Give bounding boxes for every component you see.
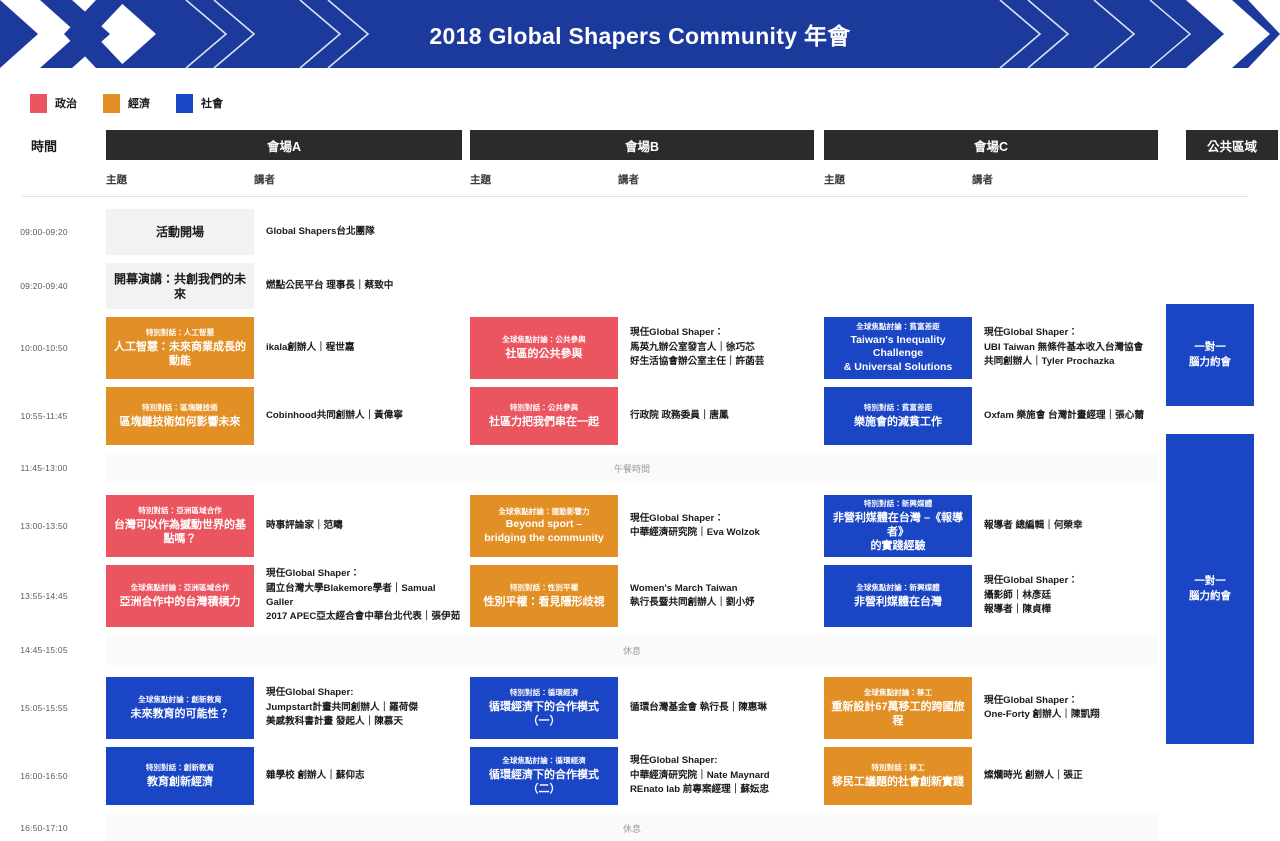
session-chip-venue-b[interactable]: 全球焦點討論：公共參與社區的公共參與 bbox=[470, 317, 618, 379]
legend-label-society: 社會 bbox=[201, 95, 223, 111]
subheader-speaker-a: 講者 bbox=[254, 162, 462, 196]
session-title-venue-b: 循環經濟下的合作模式（一） bbox=[476, 700, 612, 728]
row-time-label: 10:00-10:50 bbox=[0, 317, 88, 379]
session-chip-venue-a[interactable]: 特別對話：區塊鏈技術區塊鏈技術如何影響未來 bbox=[106, 387, 254, 445]
session-category-venue-b: 全球焦點討論：循環經濟 bbox=[502, 756, 586, 766]
session-speaker-venue-c: 燦爛時光 創辦人｜張正 bbox=[972, 747, 1158, 805]
session-speaker-venue-a: Global Shapers台北團隊 bbox=[254, 209, 462, 255]
empty-slot-venue-b bbox=[470, 263, 618, 309]
legend-swatch-economy bbox=[103, 94, 120, 113]
session-speaker-venue-a: 時事評論家｜范疇 bbox=[254, 495, 462, 557]
subheader-topic-a: 主題 bbox=[106, 162, 254, 196]
empty-speaker-venue-b bbox=[618, 209, 814, 255]
session-chip-venue-b[interactable]: 全球焦點討論：循環經濟循環經濟下的合作模式（二） bbox=[470, 747, 618, 805]
empty-slot-venue-c bbox=[824, 263, 972, 309]
session-speaker-venue-a: ikala創辦人｜程世嘉 bbox=[254, 317, 462, 379]
session-title-venue-a: 台灣可以作為撼動世界的基點嗎？ bbox=[112, 518, 248, 546]
page-title: 2018 Global Shapers Community 年會 bbox=[0, 0, 1280, 68]
session-category-venue-c: 特別對話：貧富差距 bbox=[864, 403, 932, 413]
session-speaker-venue-c: 報導者 總編輯｜何榮幸 bbox=[972, 495, 1158, 557]
session-title-venue-b: 社區力把我們串在一起 bbox=[489, 415, 599, 429]
schedule-row: 13:00-13:50特別對話：亞洲區域合作台灣可以作為撼動世界的基點嗎？時事評… bbox=[0, 495, 1280, 557]
session-speaker-venue-c: 現任Global Shaper：One-Forty 創辦人｜陳凱翔 bbox=[972, 677, 1158, 739]
schedule-row: 13:55-14:45全球焦點討論：亞洲區域合作亞洲合作中的台灣積槓力現任Glo… bbox=[0, 565, 1280, 627]
session-chip-venue-c[interactable]: 特別對話：移工移民工議題的社會創新實踐 bbox=[824, 747, 972, 805]
session-category-venue-b: 特別對話：公共參與 bbox=[510, 403, 578, 413]
session-category-venue-c: 特別對話：移工 bbox=[871, 763, 924, 773]
session-chip-venue-a[interactable]: 特別對話：創新教育教育創新經濟 bbox=[106, 747, 254, 805]
session-speaker-venue-b: 行政院 政務委員｜唐鳳 bbox=[618, 387, 814, 445]
break-row: 16:50-17:10休息 bbox=[0, 813, 1280, 841]
session-title-venue-c: 非營利媒體在台灣 –《報導者》的實踐經驗 bbox=[830, 511, 966, 553]
empty-speaker-venue-c bbox=[972, 209, 1158, 255]
session-category-venue-a: 特別對話：人工智慧 bbox=[146, 328, 214, 338]
subheader-speaker-c: 講者 bbox=[972, 162, 1158, 196]
session-speaker-venue-c: 現任Global Shaper：UBI Taiwan 無條件基本收入台灣協會共同… bbox=[972, 317, 1158, 379]
session-chip-venue-a[interactable]: 全球焦點討論：亞洲區域合作亞洲合作中的台灣積槓力 bbox=[106, 565, 254, 627]
venue-header-public: 公共區域 bbox=[1186, 130, 1278, 160]
session-category-venue-c: 全球焦點討論：移工 bbox=[864, 688, 932, 698]
venue-header-c: 會場C bbox=[824, 130, 1158, 160]
break-row: 14:45-15:05休息 bbox=[0, 635, 1280, 665]
session-category-venue-c: 全球焦點討論：新興媒體 bbox=[856, 583, 940, 593]
session-speaker-venue-a: 現任Global Shaper:Jumpstart計畫共同創辦人｜羅荷傑美感教科… bbox=[254, 677, 462, 739]
session-category-venue-a: 全球焦點討論：亞洲區域合作 bbox=[131, 583, 230, 593]
session-title-venue-b: 循環經濟下的合作模式（二） bbox=[476, 768, 612, 796]
legend-item-economy: 經濟 bbox=[103, 94, 150, 113]
row-time-label: 09:00-09:20 bbox=[0, 209, 88, 255]
legend-label-politics: 政治 bbox=[55, 95, 77, 111]
row-time-label: 09:20-09:40 bbox=[0, 263, 88, 309]
public-area-label: 一對一腦力約會 bbox=[1189, 340, 1231, 370]
session-title-venue-a: 未來教育的可能性？ bbox=[131, 707, 230, 721]
break-label: 午餐時間 bbox=[106, 453, 1158, 483]
public-area-block[interactable]: 一對一腦力約會 bbox=[1166, 434, 1254, 744]
legend-item-politics: 政治 bbox=[30, 94, 77, 113]
session-category-venue-c: 全球焦點討論：貧富差距 bbox=[856, 322, 940, 332]
row-time-label: 13:00-13:50 bbox=[0, 495, 88, 557]
category-legend: 政治 經濟 社會 bbox=[0, 68, 1280, 116]
session-category-venue-a: 特別對話：亞洲區域合作 bbox=[138, 506, 222, 516]
session-speaker-venue-b: 現任Global Shaper：中華經濟研究院｜Eva Wolzok bbox=[618, 495, 814, 557]
session-speaker-venue-b: 現任Global Shaper:中華經濟研究院｜Nate MaynardREna… bbox=[618, 747, 814, 805]
legend-swatch-society bbox=[176, 94, 193, 113]
session-category-venue-b: 全球焦點討論：公共參與 bbox=[502, 335, 586, 345]
schedule-row: 16:00-16:50特別對話：創新教育教育創新經濟雜學校 創辦人｜蘇仰志全球焦… bbox=[0, 747, 1280, 805]
session-category-venue-b: 全球焦點討論：運動影響力 bbox=[498, 507, 589, 517]
session-chip-venue-c[interactable]: 全球焦點討論：新興媒體非營利媒體在台灣 bbox=[824, 565, 972, 627]
subheader-topic-b: 主題 bbox=[470, 162, 618, 196]
session-title-venue-a: 人工智慧：未來商業成長的動能 bbox=[112, 340, 248, 368]
session-title-venue-a: 區塊鏈技術如何影響未來 bbox=[120, 415, 241, 429]
header-divider bbox=[22, 196, 1248, 197]
subheader-topic-c: 主題 bbox=[824, 162, 972, 196]
schedule-row: 10:55-11:45特別對話：區塊鏈技術區塊鏈技術如何影響未來Cobinhoo… bbox=[0, 387, 1280, 445]
empty-slot-venue-b bbox=[470, 209, 618, 255]
session-speaker-venue-c: Oxfam 樂施會 台灣計畫經理｜張心薾 bbox=[972, 387, 1158, 445]
session-category-venue-b: 特別對話：性別平權 bbox=[510, 583, 578, 593]
empty-speaker-venue-c bbox=[972, 263, 1158, 309]
session-chip-venue-b[interactable]: 特別對話：循環經濟循環經濟下的合作模式（一） bbox=[470, 677, 618, 739]
venue-header-row: 時間 會場A 會場B 會場C 公共區域 bbox=[0, 128, 1280, 162]
break-row: 11:45-13:00午餐時間 bbox=[0, 453, 1280, 483]
session-chip-venue-b[interactable]: 特別對話：性別平權性別平權：看見隱形歧視 bbox=[470, 565, 618, 627]
session-title-venue-b: 性別平權：看見隱形歧視 bbox=[484, 595, 605, 609]
session-title-venue-a: 亞洲合作中的台灣積槓力 bbox=[120, 595, 241, 609]
session-title-venue-b: Beyond sport –bridging the community bbox=[484, 518, 604, 545]
session-speaker-venue-b: Women's March Taiwan執行長暨共同創辦人｜劉小妤 bbox=[618, 565, 814, 627]
session-speaker-venue-c: 現任Global Shaper：攝影師｜林彥廷報導者｜陳貞樺 bbox=[972, 565, 1158, 627]
column-subheader-row: 主題 講者 主題 講者 主題 講者 bbox=[0, 162, 1280, 196]
legend-swatch-politics bbox=[30, 94, 47, 113]
session-title-venue-c: 移民工議題的社會創新實踐 bbox=[832, 775, 964, 789]
session-speaker-venue-a: Cobinhood共同創辦人｜黃偉寧 bbox=[254, 387, 462, 445]
session-chip-venue-c[interactable]: 全球焦點討論：貧富差距Taiwan's Inequality Challenge… bbox=[824, 317, 972, 379]
public-area-label: 一對一腦力約會 bbox=[1189, 574, 1231, 604]
session-chip-venue-a[interactable]: 活動開場 bbox=[106, 209, 254, 255]
session-category-venue-b: 特別對話：循環經濟 bbox=[510, 688, 578, 698]
session-title-venue-c: 樂施會的減貧工作 bbox=[854, 415, 942, 429]
schedule-body: 09:00-09:20活動開場Global Shapers台北團隊09:20-0… bbox=[0, 209, 1280, 841]
session-title-venue-c: 重新設計67萬移工的跨國旅程 bbox=[830, 700, 966, 728]
session-title-venue-a: 教育創新經濟 bbox=[147, 775, 213, 789]
schedule-row: 15:05-15:55全球焦點討論：創新教育未來教育的可能性？現任Global … bbox=[0, 677, 1280, 739]
schedule-row: 09:20-09:40開幕演講：共創我們的未來燃點公民平台 理事長｜蔡致中 bbox=[0, 263, 1280, 309]
empty-slot-venue-c bbox=[824, 209, 972, 255]
break-label: 休息 bbox=[106, 635, 1158, 665]
row-time-label: 10:55-11:45 bbox=[0, 387, 88, 445]
session-title-venue-b: 社區的公共參與 bbox=[506, 347, 583, 361]
session-title-venue-a: 開幕演講：共創我們的未來 bbox=[112, 272, 248, 303]
session-chip-venue-a[interactable]: 全球焦點討論：創新教育未來教育的可能性？ bbox=[106, 677, 254, 739]
session-category-venue-c: 特別對話：新興媒體 bbox=[864, 499, 932, 509]
session-chip-venue-a[interactable]: 特別對話：人工智慧人工智慧：未來商業成長的動能 bbox=[106, 317, 254, 379]
page-banner: 2018 Global Shapers Community 年會 bbox=[0, 0, 1280, 68]
session-title-venue-c: 非營利媒體在台灣 bbox=[854, 595, 942, 609]
header-time: 時間 bbox=[0, 136, 88, 155]
schedule-grid: 時間 會場A 會場B 會場C 公共區域 主題 講者 主題 講者 主題 講者 09… bbox=[0, 116, 1280, 841]
legend-label-economy: 經濟 bbox=[128, 95, 150, 111]
schedule-row: 10:00-10:50特別對話：人工智慧人工智慧：未來商業成長的動能ikala創… bbox=[0, 317, 1280, 379]
session-category-venue-a: 特別對話：創新教育 bbox=[146, 763, 214, 773]
session-chip-venue-b[interactable]: 全球焦點討論：運動影響力Beyond sport –bridging the c… bbox=[470, 495, 618, 557]
session-speaker-venue-b: 循環台灣基金會 執行長｜陳惠琳 bbox=[618, 677, 814, 739]
venue-header-b: 會場B bbox=[470, 130, 814, 160]
session-speaker-venue-b: 現任Global Shaper：馬英九辦公室發言人｜徐巧芯好生活協會辦公室主任｜… bbox=[618, 317, 814, 379]
row-time-label: 15:05-15:55 bbox=[0, 677, 88, 739]
break-time-label: 16:50-17:10 bbox=[0, 813, 88, 841]
schedule-row: 09:00-09:20活動開場Global Shapers台北團隊 bbox=[0, 209, 1280, 255]
session-speaker-venue-a: 雜學校 創辦人｜蘇仰志 bbox=[254, 747, 462, 805]
session-chip-venue-c[interactable]: 全球焦點討論：移工重新設計67萬移工的跨國旅程 bbox=[824, 677, 972, 739]
session-speaker-venue-a: 燃點公民平台 理事長｜蔡致中 bbox=[254, 263, 462, 309]
break-time-label: 14:45-15:05 bbox=[0, 635, 88, 665]
session-chip-venue-c[interactable]: 特別對話：貧富差距樂施會的減貧工作 bbox=[824, 387, 972, 445]
row-time-label: 13:55-14:45 bbox=[0, 565, 88, 627]
session-speaker-venue-a: 現任Global Shaper：國立台灣大學Blakemore學者｜Samual… bbox=[254, 565, 462, 627]
break-time-label: 11:45-13:00 bbox=[0, 453, 88, 483]
venue-header-a: 會場A bbox=[106, 130, 462, 160]
session-title-venue-c: Taiwan's Inequality Challenge& Universal… bbox=[830, 334, 966, 374]
session-chip-venue-a[interactable]: 特別對話：亞洲區域合作台灣可以作為撼動世界的基點嗎？ bbox=[106, 495, 254, 557]
public-area-block[interactable]: 一對一腦力約會 bbox=[1166, 304, 1254, 406]
legend-item-society: 社會 bbox=[176, 94, 223, 113]
session-title-venue-a: 活動開場 bbox=[156, 225, 204, 240]
break-label: 休息 bbox=[106, 813, 1158, 841]
empty-speaker-venue-b bbox=[618, 263, 814, 309]
subheader-speaker-b: 講者 bbox=[618, 162, 814, 196]
row-time-label: 16:00-16:50 bbox=[0, 747, 88, 805]
session-chip-venue-b[interactable]: 特別對話：公共參與社區力把我們串在一起 bbox=[470, 387, 618, 445]
session-category-venue-a: 全球焦點討論：創新教育 bbox=[138, 695, 222, 705]
session-category-venue-a: 特別對話：區塊鏈技術 bbox=[142, 403, 218, 413]
session-chip-venue-c[interactable]: 特別對話：新興媒體非營利媒體在台灣 –《報導者》的實踐經驗 bbox=[824, 495, 972, 557]
session-chip-venue-a[interactable]: 開幕演講：共創我們的未來 bbox=[106, 263, 254, 309]
